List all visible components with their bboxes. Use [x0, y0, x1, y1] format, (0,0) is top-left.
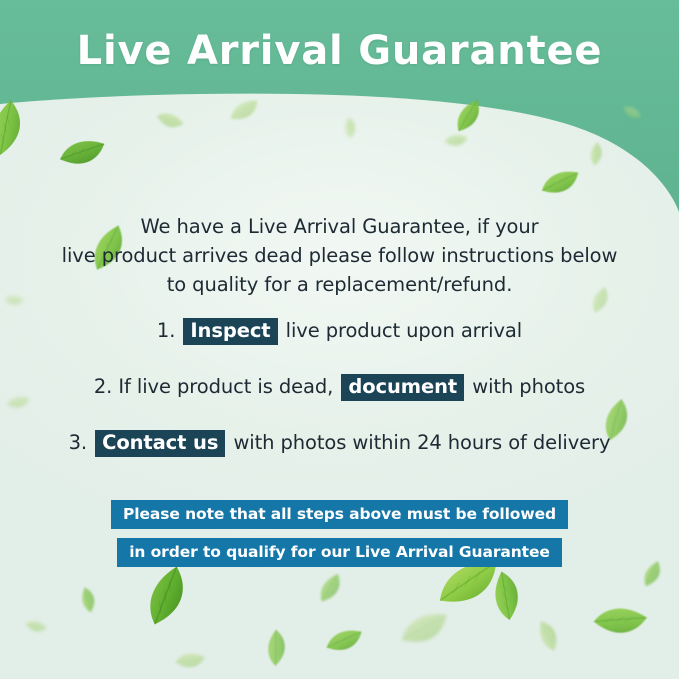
intro-line: to quality for a replacement/refund.: [60, 270, 619, 299]
footer-notes: Please note that all steps above must be…: [0, 500, 679, 576]
step-number: 2.: [94, 375, 112, 398]
step-number: 1.: [157, 319, 175, 342]
step-item-3: 3. Contact us with photos within 24 hour…: [30, 430, 649, 457]
step-number: 3.: [69, 431, 87, 454]
note-row: in order to qualify for our Live Arrival…: [0, 538, 679, 567]
step-highlight-inspect: Inspect: [183, 318, 277, 345]
intro-paragraph: We have a Live Arrival Guarantee, if you…: [60, 212, 619, 299]
step-text-after: with photos within 24 hours of delivery: [233, 431, 610, 454]
intro-line: live product arrives dead please follow …: [60, 241, 619, 270]
step-highlight-contact-us: Contact us: [95, 430, 225, 457]
step-highlight-document: document: [341, 374, 464, 401]
live-arrival-guarantee-graphic: Live Arrival Guarantee We have a Live Ar…: [0, 0, 679, 679]
note-line-2: in order to qualify for our Live Arrival…: [117, 538, 562, 567]
step-text-before: If live product is dead,: [118, 375, 333, 398]
content-area: We have a Live Arrival Guarantee, if you…: [0, 0, 679, 679]
note-row: Please note that all steps above must be…: [0, 500, 679, 529]
step-text-after: with photos: [472, 375, 585, 398]
steps-list: 1. Inspect live product upon arrival 2. …: [30, 318, 649, 486]
intro-line: We have a Live Arrival Guarantee, if you…: [60, 212, 619, 241]
step-text-after: live product upon arrival: [286, 319, 522, 342]
note-line-1: Please note that all steps above must be…: [111, 500, 568, 529]
step-item-2: 2. If live product is dead, document wit…: [30, 374, 649, 401]
step-item-1: 1. Inspect live product upon arrival: [30, 318, 649, 345]
